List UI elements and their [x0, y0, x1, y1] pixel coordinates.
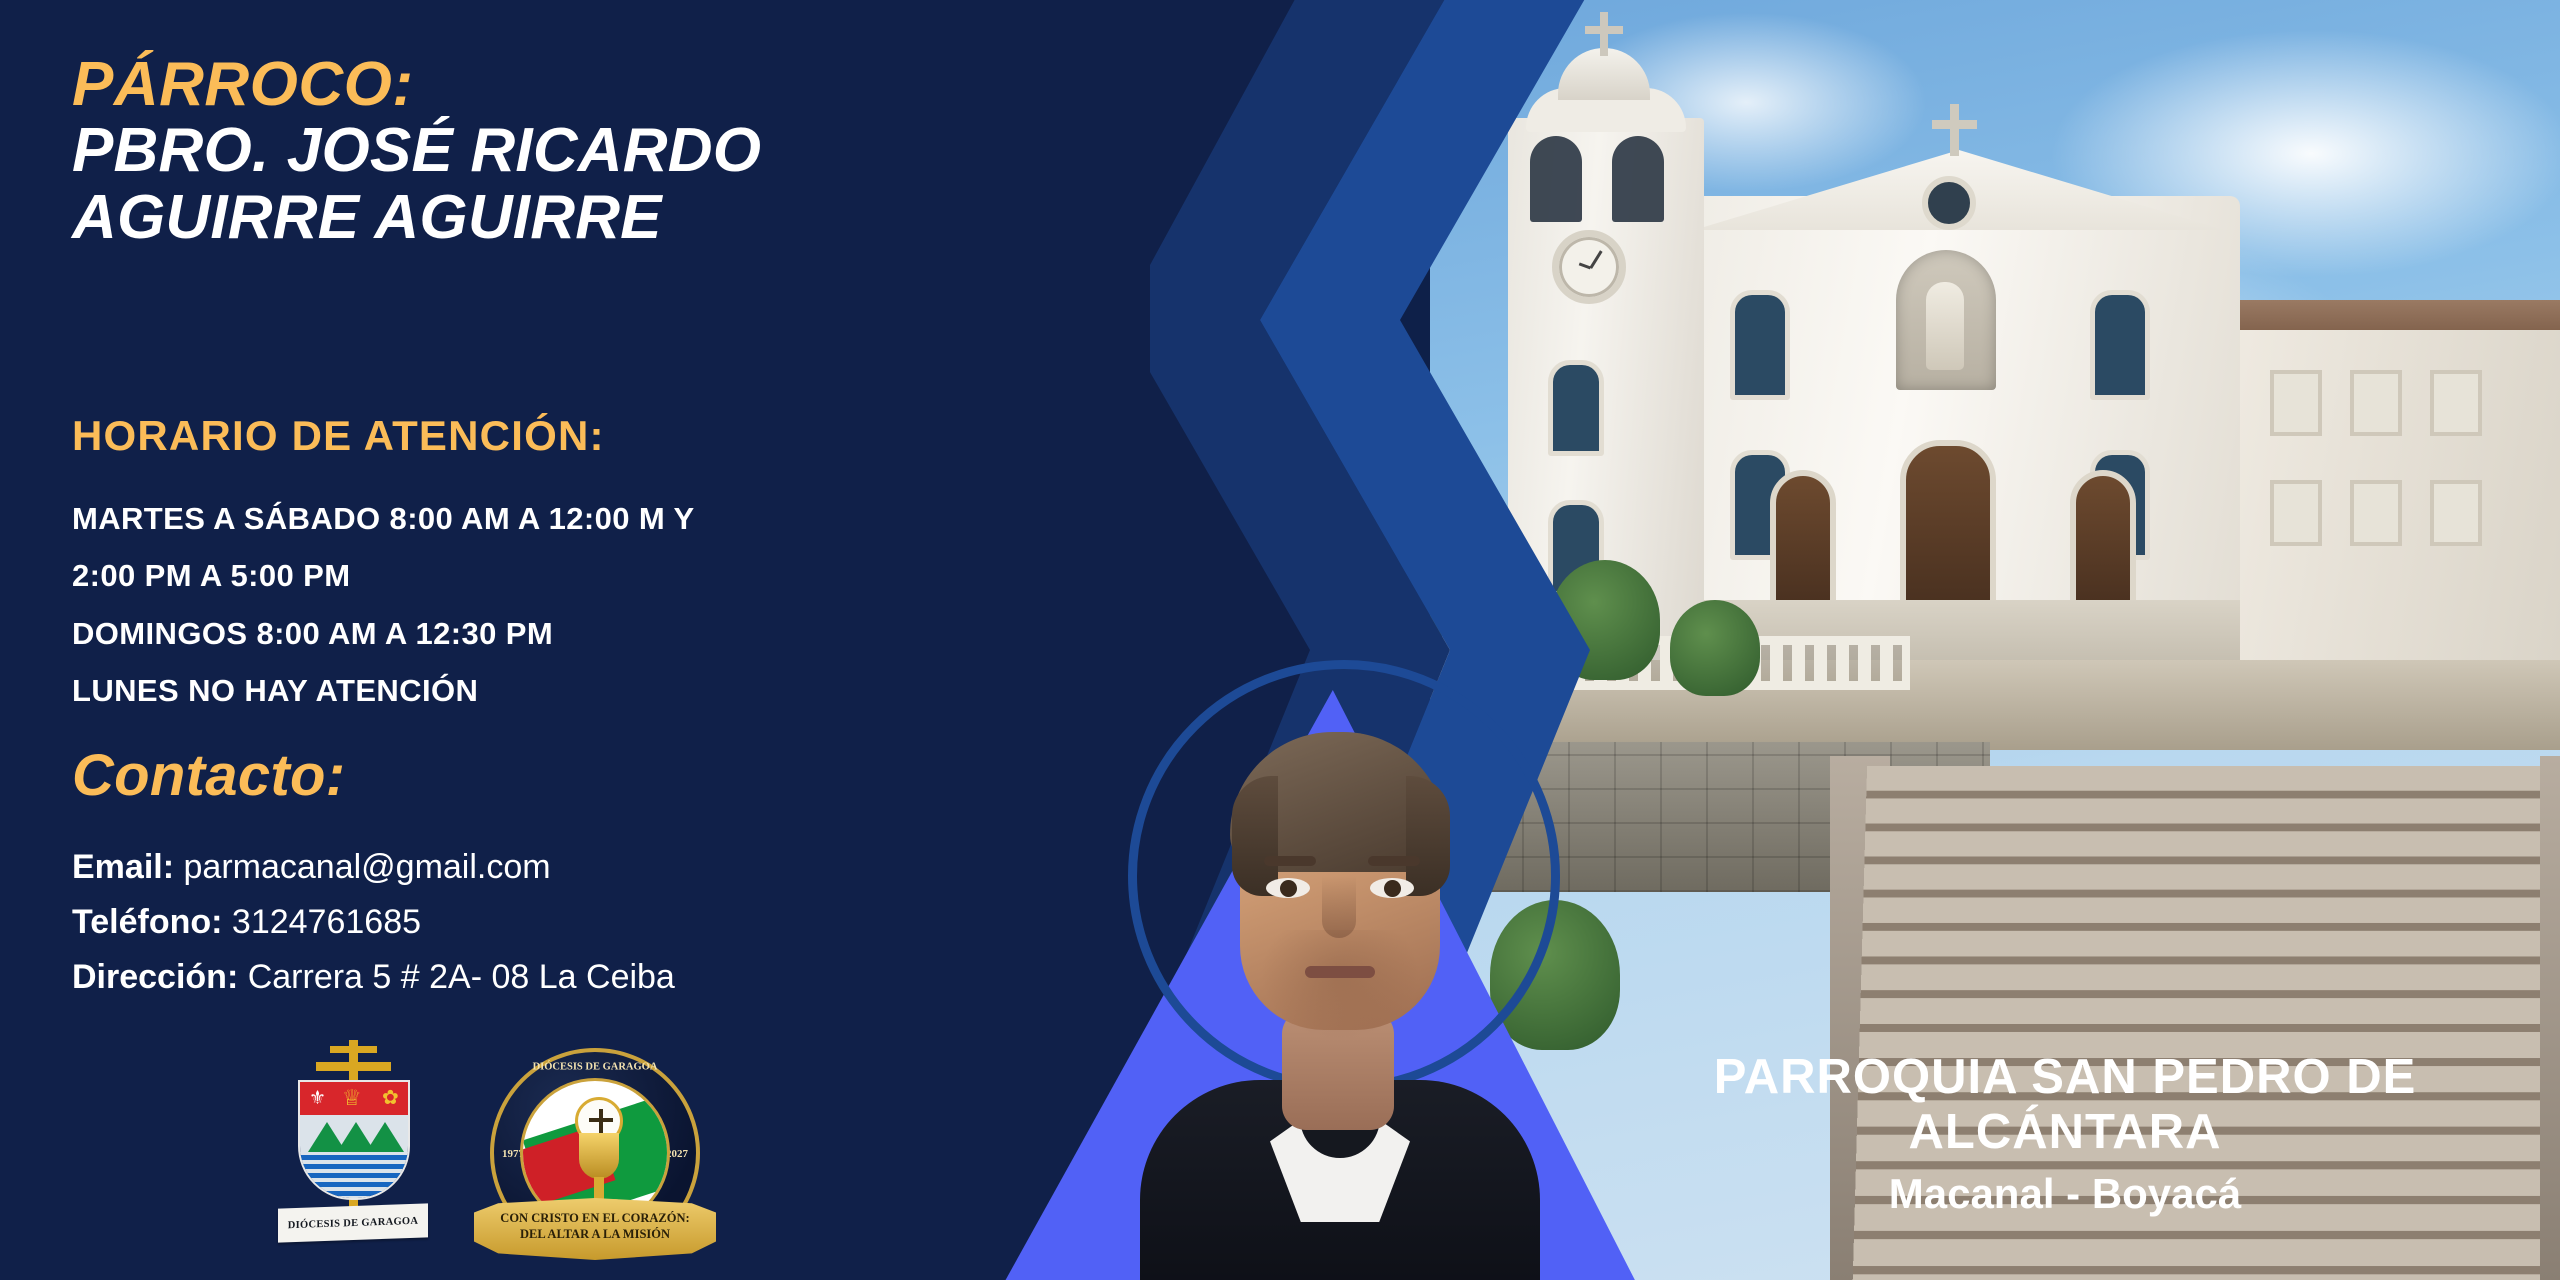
diocese-coat-of-arms-logo: ⚜ ♕ ✿ DIÓCESIS DE GARAGOA — [278, 1040, 428, 1240]
church-side-door — [2070, 470, 2136, 610]
fleur-de-lis-icon: ⚜ — [309, 1089, 326, 1108]
parroco-name: PBRO. JOSÉ RICARDO AGUIRRE AGUIRRE — [72, 118, 1132, 252]
contact-address-label: Dirección: — [72, 958, 238, 996]
parish-name-line-2: ALCÁNTARA — [1600, 1105, 2530, 1160]
portrait-shading — [1260, 930, 1420, 1040]
saint-statue — [1926, 282, 1964, 370]
contact-address-value: Carrera 5 # 2A- 08 La Ceiba — [248, 958, 675, 996]
parroco-name-line-1: PBRO. JOSÉ RICARDO — [72, 118, 1132, 185]
schedule-line: 2:00 PM A 5:00 PM — [72, 547, 1072, 604]
portrait-eyebrow — [1368, 856, 1420, 866]
church-side-door — [1770, 470, 1836, 610]
nave-window — [1730, 290, 1790, 400]
schedule-lines: MARTES A SÁBADO 8:00 AM A 12:00 M Y 2:00… — [72, 490, 1072, 719]
tower-cross-icon — [1600, 12, 1608, 56]
annex-window — [2270, 480, 2322, 546]
parish-info-poster: PÁRROCO: PBRO. JOSÉ RICARDO AGUIRRE AGUI… — [0, 0, 2560, 1280]
annex-window — [2270, 370, 2322, 436]
schedule-line: DOMINGOS 8:00 AM A 12:30 PM — [72, 605, 1072, 662]
portrait-hair-side — [1406, 776, 1450, 896]
parish-location: Macanal - Boyacá — [1600, 1170, 2530, 1218]
contact-lines: Email: parmacanal@gmail.com Teléfono: 31… — [72, 840, 1072, 1005]
chalice-stem — [594, 1177, 604, 1201]
contact-email-value[interactable]: parmacanal@gmail.com — [184, 848, 551, 886]
belfry-arch — [1612, 136, 1664, 222]
portrait-eye — [1370, 878, 1414, 898]
contact-title: Contacto: — [72, 742, 345, 809]
contact-phone-row: Teléfono: 3124761685 — [72, 895, 1072, 950]
crown-icon: ♕ — [342, 1087, 362, 1109]
seal-motto-line-2: DEL ALTAR A LA MISIÓN — [520, 1227, 670, 1243]
contact-email-row: Email: parmacanal@gmail.com — [72, 840, 1072, 895]
parroco-name-line-2: AGUIRRE AGUIRRE — [72, 185, 1132, 252]
parish-name-block: PARROQUIA SAN PEDRO DE ALCÁNTARA Macanal… — [1600, 1050, 2530, 1218]
wheat-icon: ✿ — [382, 1088, 399, 1108]
shrub — [1670, 600, 1760, 696]
shield-banner-text: DIÓCESIS DE GARAGOA — [278, 1203, 428, 1242]
schedule-title: HORARIO DE ATENCIÓN: — [72, 412, 605, 460]
portrait-nose — [1322, 876, 1356, 938]
portrait-mouth — [1305, 966, 1375, 978]
contact-phone-value[interactable]: 3124761685 — [232, 903, 421, 941]
belfry-arch — [1530, 136, 1582, 222]
tower-window — [1548, 360, 1604, 456]
priest-portrait — [1100, 680, 1570, 1280]
tower-clock — [1552, 230, 1626, 304]
parish-name-line-1: PARROQUIA SAN PEDRO DE — [1600, 1050, 2530, 1105]
portrait-pupil — [1280, 880, 1297, 897]
portrait-eyebrow — [1264, 856, 1316, 866]
portrait-pupil — [1384, 880, 1401, 897]
annex-window — [2430, 480, 2482, 546]
shield-body: ⚜ ♕ ✿ — [298, 1080, 410, 1200]
roof-cross-icon — [1932, 120, 1977, 129]
seal-motto-scroll: CON CRISTO EN EL CORAZÓN: DEL ALTAR A LA… — [474, 1194, 716, 1260]
portrait-hair-side — [1232, 776, 1278, 896]
portrait-eye — [1266, 878, 1310, 898]
annex-window — [2350, 370, 2402, 436]
parroco-label: PÁRROCO: — [72, 52, 414, 117]
roof-cross-icon — [1950, 104, 1959, 156]
rose-window — [1922, 176, 1976, 230]
seal-top-text: DIÓCESIS DE GARAGOA — [533, 1062, 658, 1073]
chalice-icon — [579, 1133, 619, 1179]
shield-waves-blue — [300, 1155, 408, 1200]
stair-railing — [2540, 756, 2560, 1280]
contact-address-row: Dirección: Carrera 5 # 2A- 08 La Ceiba — [72, 950, 1072, 1005]
annex-window — [2350, 480, 2402, 546]
nave-window — [2090, 290, 2150, 400]
seal-motto-line-1: CON CRISTO EN EL CORAZÓN: — [500, 1211, 689, 1227]
contact-phone-label: Teléfono: — [72, 903, 222, 941]
tower-cross-icon — [1585, 26, 1623, 34]
mountain-icon — [366, 1122, 404, 1152]
annex-window — [2430, 370, 2482, 436]
diocese-mission-seal-logo: DIÓCESIS DE GARAGOA GRAN MISIÓN EVANGELI… — [490, 1048, 700, 1258]
church-main-door — [1900, 440, 1996, 610]
contact-email-label: Email: — [72, 848, 174, 886]
schedule-line: MARTES A SÁBADO 8:00 AM A 12:00 M Y — [72, 490, 1072, 547]
schedule-line: LUNES NO HAY ATENCIÓN — [72, 662, 1072, 719]
